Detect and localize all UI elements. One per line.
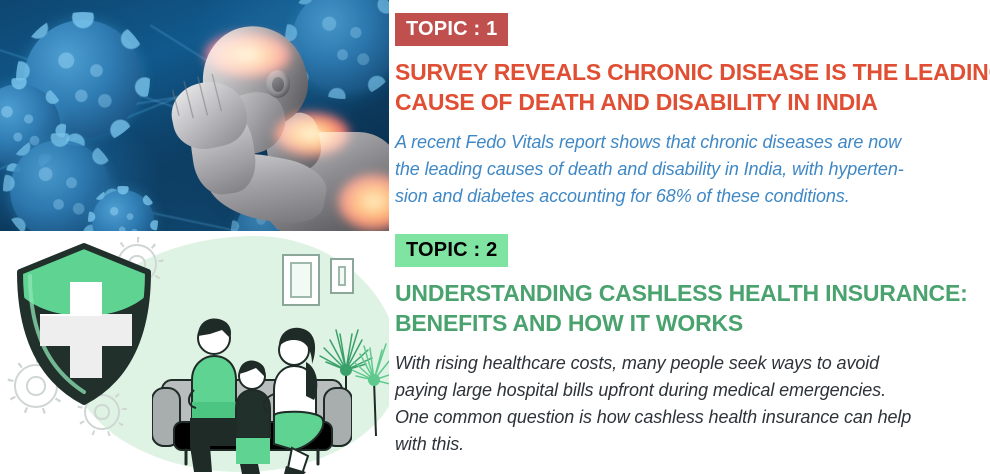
topic-1-headline-line-2: CAUSE OF DEATH AND DISABILITY IN INDIA <box>395 87 987 117</box>
topic-2-headline-line-2: BENEFITS AND HOW IT WORKS <box>395 308 987 338</box>
topic-2-headline-line-1: UNDERSTANDING CASHLESS HEALTH INSURANCE: <box>395 278 987 308</box>
article-column: TOPIC : 1 SURVEY REVEALS CHRONIC DISEASE… <box>389 0 990 474</box>
topic-1-body: A recent Fedo Vitals report shows that c… <box>395 129 987 210</box>
wall-frame <box>282 254 320 306</box>
family-illustration <box>182 306 347 474</box>
topic-1-body-line-1: A recent Fedo Vitals report shows that c… <box>395 129 987 156</box>
article-topic-2: TOPIC : 2 UNDERSTANDING CASHLESS HEALTH … <box>395 234 987 458</box>
father <box>189 319 240 472</box>
topic-2-body: With rising healthcare costs, many peopl… <box>395 350 987 458</box>
topic-2-body-line-2: paying large hospital bills upfront duri… <box>395 377 987 404</box>
media-column: Volume - XVII Issue : Oct. 2024 <box>0 0 389 474</box>
topic-1-headline[interactable]: SURVEY REVEALS CHRONIC DISEASE IS THE LE… <box>395 57 987 117</box>
article-topic-1: TOPIC : 1 SURVEY REVEALS CHRONIC DISEASE… <box>395 13 987 210</box>
topic-1-badge: TOPIC : 1 <box>395 13 508 46</box>
newsletter-page: Volume - XVII Issue : Oct. 2024 TOPIC : … <box>0 0 990 474</box>
topic-2-headline[interactable]: UNDERSTANDING CASHLESS HEALTH INSURANCE:… <box>395 278 987 338</box>
chronic-disease-image <box>0 0 389 231</box>
child <box>236 361 270 474</box>
wall-frame <box>330 258 354 294</box>
pain-hotspot-head <box>204 32 292 78</box>
health-insurance-image: Volume - XVII Issue : Oct. 2024 <box>0 234 389 474</box>
human-figure <box>148 16 389 231</box>
topic-2-body-line-3: One common question is how cashless heal… <box>395 404 987 431</box>
topic-2-body-line-1: With rising healthcare costs, many peopl… <box>395 350 987 377</box>
virus-cell <box>92 190 154 231</box>
topic-2-badge: TOPIC : 2 <box>395 234 508 267</box>
topic-2-body-line-4: with this. <box>395 431 987 458</box>
topic-1-body-line-2: the leading causes of death and disabili… <box>395 156 987 183</box>
health-shield-icon <box>14 242 154 406</box>
mother <box>264 328 324 474</box>
topic-1-body-line-3: sion and diabetes accounting for 68% of … <box>395 183 987 210</box>
topic-1-headline-line-1: SURVEY REVEALS CHRONIC DISEASE IS THE LE… <box>395 57 987 87</box>
pain-hotspot-shoulder <box>274 112 350 156</box>
